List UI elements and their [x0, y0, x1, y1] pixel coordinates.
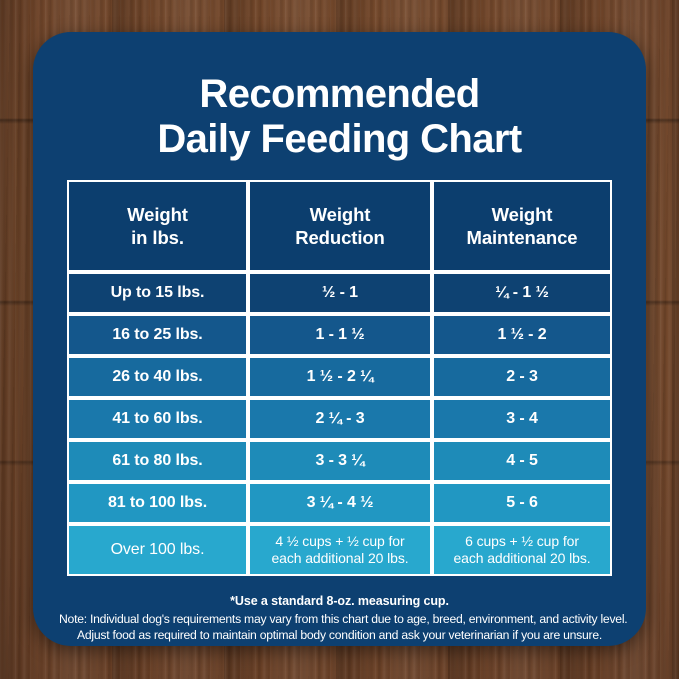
- cell-maintenance-line2: each additional 20 lbs.: [434, 550, 610, 567]
- cell-reduction: 3 ¼ - 4 ½: [248, 482, 432, 524]
- cell-maintenance-line1: 6 cups + ½ cup for: [434, 533, 610, 550]
- column-header-weight: Weight in lbs.: [67, 180, 248, 272]
- table-row: Over 100 lbs. 4 ½ cups + ½ cup for each …: [67, 524, 612, 576]
- page-title: Recommended Daily Feeding Chart: [33, 32, 646, 162]
- table-row: 16 to 25 lbs. 1 - 1 ½ 1 ½ - 2: [67, 314, 612, 356]
- column-header-weight-line1: Weight: [69, 203, 246, 226]
- footnote-measuring-cup: *Use a standard 8-oz. measuring cup.: [59, 594, 620, 608]
- cell-weight: 26 to 40 lbs.: [67, 356, 248, 398]
- cell-reduction: 4 ½ cups + ½ cup for each additional 20 …: [248, 524, 432, 576]
- cell-weight: 41 to 60 lbs.: [67, 398, 248, 440]
- cell-weight: Up to 15 lbs.: [67, 272, 248, 314]
- cell-reduction: 2 ¼ - 3: [248, 398, 432, 440]
- cell-maintenance: ¼ - 1 ½: [432, 272, 612, 314]
- column-header-reduction-line1: Weight: [250, 203, 430, 226]
- footnote-note-line1: Note: Individual dog's requirements may …: [59, 611, 620, 627]
- footnote-note-line2: Adjust food as required to maintain opti…: [59, 627, 620, 643]
- cell-reduction: 1 - 1 ½: [248, 314, 432, 356]
- cell-reduction: ½ - 1: [248, 272, 432, 314]
- table-header-row: Weight in lbs. Weight Reduction Weight M…: [67, 180, 612, 272]
- footnotes: *Use a standard 8-oz. measuring cup. Not…: [59, 594, 620, 644]
- feeding-chart-card: Recommended Daily Feeding Chart Weight i…: [33, 32, 646, 646]
- table-row: 41 to 60 lbs. 2 ¼ - 3 3 - 4: [67, 398, 612, 440]
- cell-maintenance: 5 - 6: [432, 482, 612, 524]
- table-body: Up to 15 lbs. ½ - 1 ¼ - 1 ½ 16 to 25 lbs…: [67, 272, 612, 576]
- cell-weight: Over 100 lbs.: [67, 524, 248, 576]
- cell-maintenance: 6 cups + ½ cup for each additional 20 lb…: [432, 524, 612, 576]
- title-line-1: Recommended: [67, 72, 612, 117]
- feeding-table: Weight in lbs. Weight Reduction Weight M…: [67, 180, 612, 576]
- column-header-maintenance-line2: Maintenance: [434, 226, 610, 249]
- column-header-weight-line2: in lbs.: [69, 226, 246, 249]
- cell-maintenance: 2 - 3: [432, 356, 612, 398]
- cell-reduction: 1 ½ - 2 ¼: [248, 356, 432, 398]
- column-header-reduction-line2: Reduction: [250, 226, 430, 249]
- table-row: 81 to 100 lbs. 3 ¼ - 4 ½ 5 - 6: [67, 482, 612, 524]
- column-header-maintenance-line1: Weight: [434, 203, 610, 226]
- cell-weight: 61 to 80 lbs.: [67, 440, 248, 482]
- title-line-2: Daily Feeding Chart: [67, 117, 612, 162]
- cell-weight: 16 to 25 lbs.: [67, 314, 248, 356]
- column-header-weight-maintenance: Weight Maintenance: [432, 180, 612, 272]
- table-row: 61 to 80 lbs. 3 - 3 ¼ 4 - 5: [67, 440, 612, 482]
- cell-maintenance: 1 ½ - 2: [432, 314, 612, 356]
- table-header: Weight in lbs. Weight Reduction Weight M…: [67, 180, 612, 272]
- table-row: 26 to 40 lbs. 1 ½ - 2 ¼ 2 - 3: [67, 356, 612, 398]
- cell-maintenance: 4 - 5: [432, 440, 612, 482]
- cell-weight: 81 to 100 lbs.: [67, 482, 248, 524]
- cell-reduction-line1: 4 ½ cups + ½ cup for: [250, 533, 430, 550]
- cell-maintenance: 3 - 4: [432, 398, 612, 440]
- cell-reduction-line2: each additional 20 lbs.: [250, 550, 430, 567]
- table-row: Up to 15 lbs. ½ - 1 ¼ - 1 ½: [67, 272, 612, 314]
- cell-reduction: 3 - 3 ¼: [248, 440, 432, 482]
- column-header-weight-reduction: Weight Reduction: [248, 180, 432, 272]
